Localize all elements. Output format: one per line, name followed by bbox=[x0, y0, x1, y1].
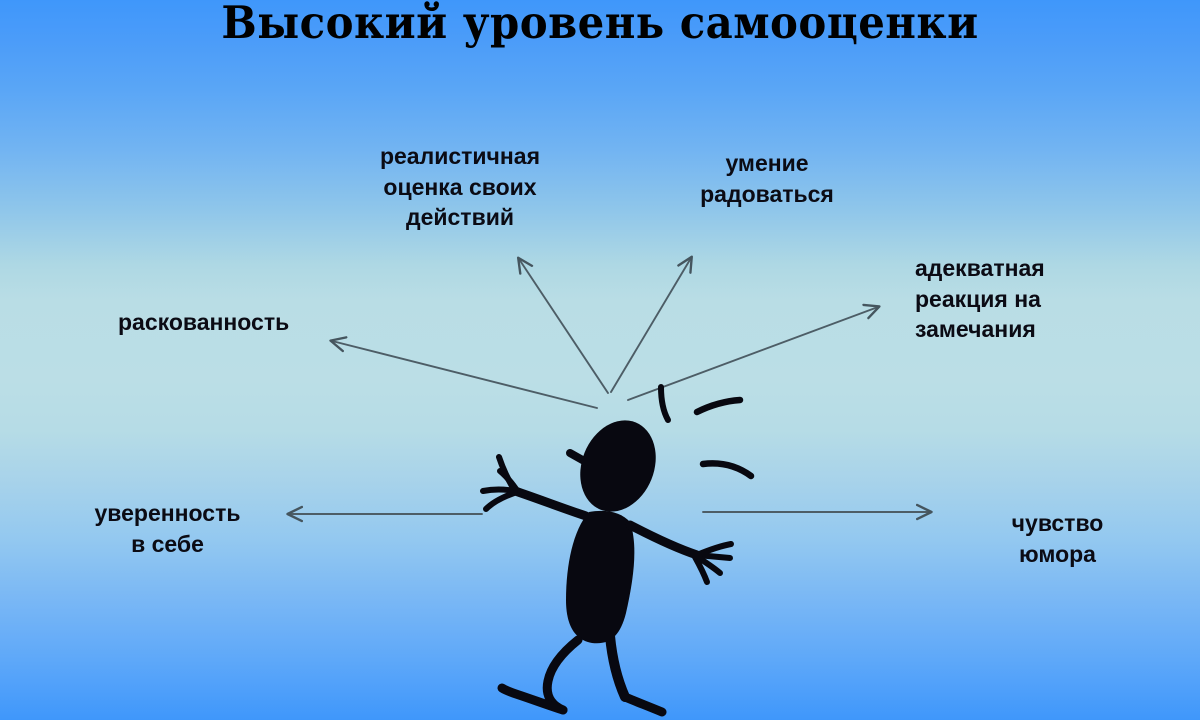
figure-nose bbox=[570, 453, 586, 462]
figure-left-arm bbox=[515, 491, 586, 516]
figure-back-leg bbox=[547, 640, 578, 710]
expression-line-3 bbox=[703, 463, 751, 476]
label-ability-to-rejoice: умение радоваться bbox=[657, 148, 877, 209]
figure-left-hand bbox=[483, 457, 516, 509]
label-ease: раскованность bbox=[118, 307, 378, 338]
label-adequate-reaction: адекватная реакция на замечания bbox=[915, 253, 1180, 345]
expression-line-1 bbox=[661, 387, 668, 420]
figure-torso bbox=[566, 511, 634, 643]
figure-head bbox=[567, 409, 669, 523]
arrow-to-joy bbox=[611, 258, 691, 392]
arrow-to-reaction bbox=[628, 307, 878, 400]
expression-line-2 bbox=[697, 400, 740, 412]
label-self-confidence: уверенность в себе bbox=[60, 498, 275, 559]
label-sense-of-humour: чувство юмора bbox=[965, 508, 1150, 569]
figure-right-hand bbox=[695, 544, 731, 582]
expression-lines bbox=[661, 387, 751, 476]
diagram-artwork bbox=[0, 0, 1200, 720]
arrow-to-realistic bbox=[519, 259, 608, 393]
arrow-to-ease bbox=[332, 341, 597, 408]
slide-canvas: Высокий уровень самооценки bbox=[0, 0, 1200, 720]
figure-front-foot bbox=[625, 697, 662, 712]
figure-right-arm bbox=[630, 525, 697, 555]
label-realistic-assessment: реалистичная оценка своих действий bbox=[330, 141, 590, 233]
stick-figure bbox=[483, 409, 731, 712]
figure-front-leg bbox=[610, 636, 625, 697]
